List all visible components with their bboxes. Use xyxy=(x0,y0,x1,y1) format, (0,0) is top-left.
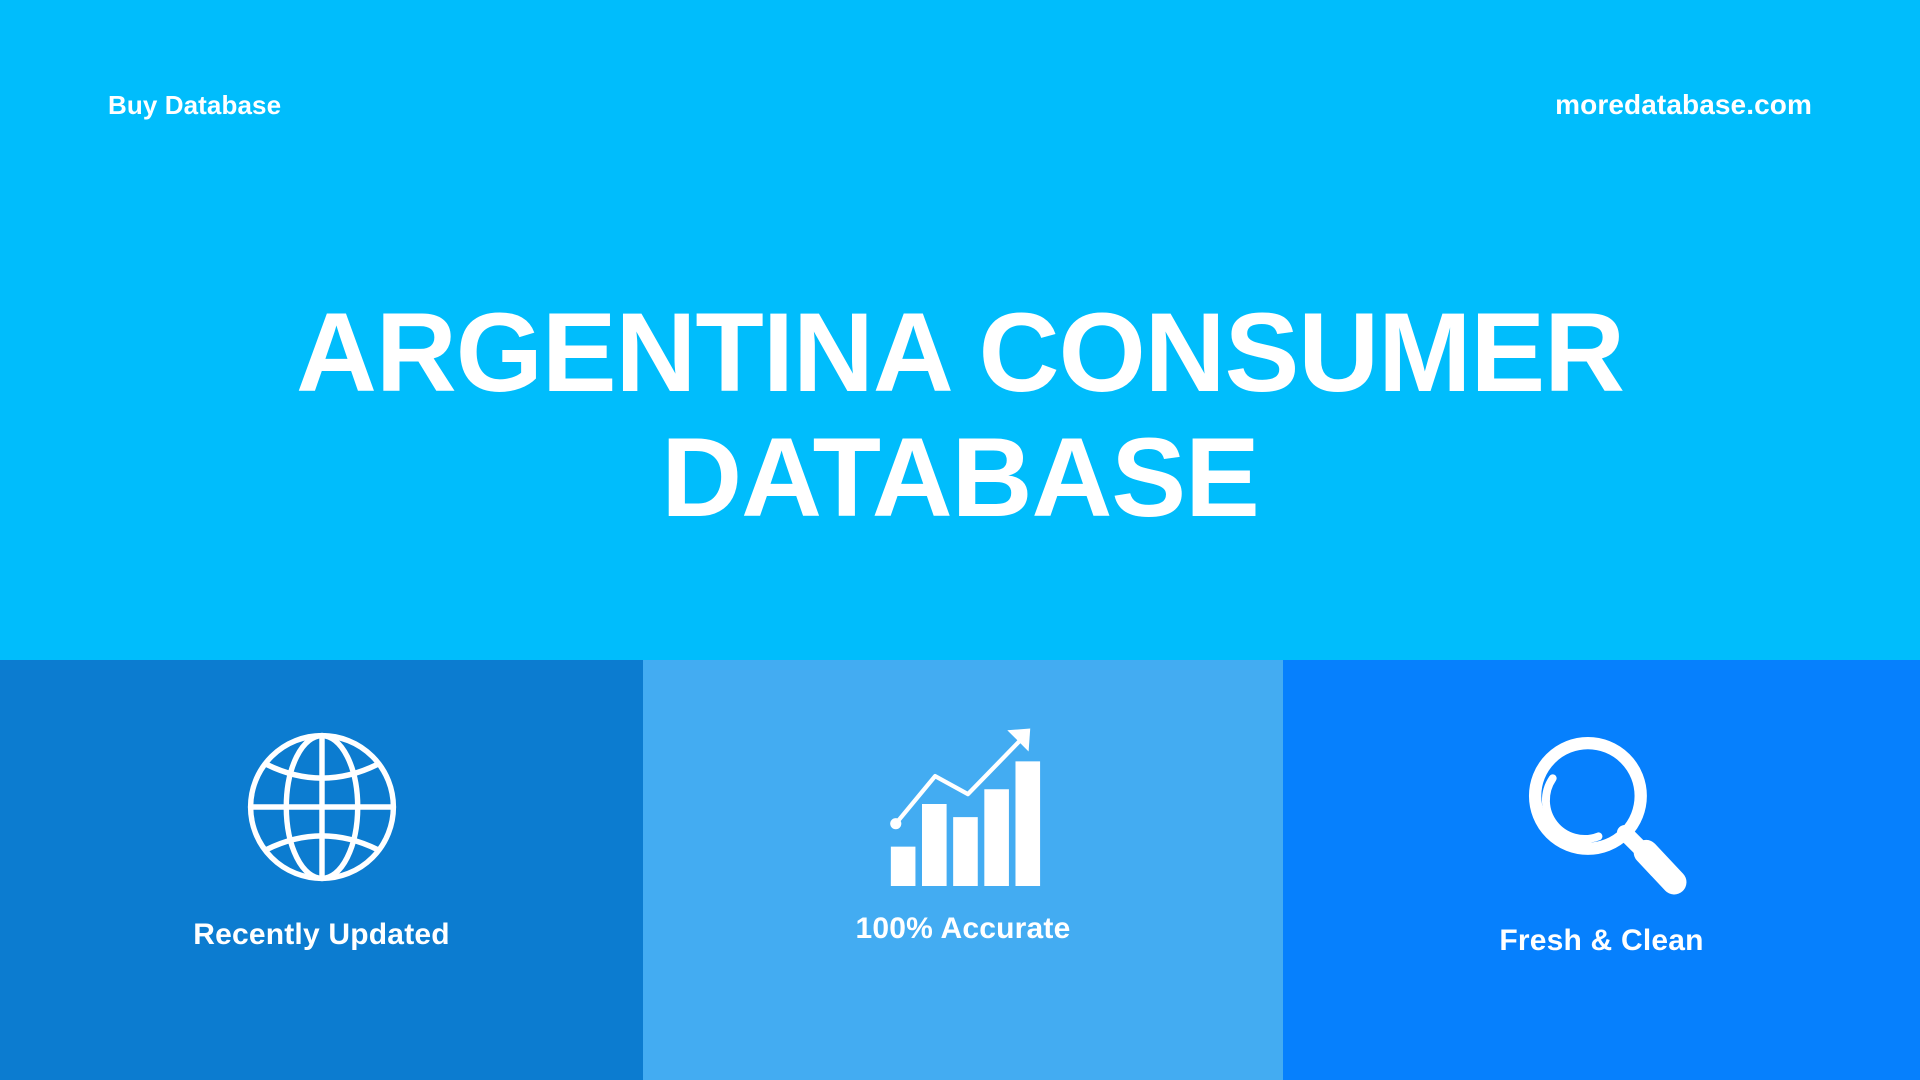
hero-heading: ARGENTINA CONSUMER DATABASE xyxy=(60,290,1860,541)
growth-chart-icon xyxy=(881,722,1045,886)
feature-panel-recently-updated: Recently Updated xyxy=(0,660,643,1080)
page-title: ARGENTINA CONSUMER DATABASE xyxy=(0,290,1920,541)
magnifier-icon xyxy=(1514,722,1690,898)
hero-heading-line-2: DATABASE xyxy=(60,415,1860,540)
feature-label-accurate: 100% Accurate xyxy=(856,912,1071,946)
globe-icon xyxy=(237,722,407,892)
hero-topbar: Buy Database moredatabase.com xyxy=(0,0,1920,210)
website-url[interactable]: moredatabase.com xyxy=(1555,89,1812,121)
feature-panels: Recently Updated xyxy=(0,660,1920,1080)
feature-panel-fresh-clean: Fresh & Clean xyxy=(1283,660,1920,1080)
brand-name: Buy Database xyxy=(108,90,281,121)
feature-label-recently-updated: Recently Updated xyxy=(193,918,450,952)
hero-heading-line-1: ARGENTINA CONSUMER xyxy=(60,290,1860,415)
feature-label-fresh-clean: Fresh & Clean xyxy=(1499,924,1703,958)
hero-section: Buy Database moredatabase.com ARGENTINA … xyxy=(0,0,1920,660)
promo-banner: Buy Database moredatabase.com ARGENTINA … xyxy=(0,0,1920,1080)
feature-panel-accurate: 100% Accurate xyxy=(643,660,1283,1080)
